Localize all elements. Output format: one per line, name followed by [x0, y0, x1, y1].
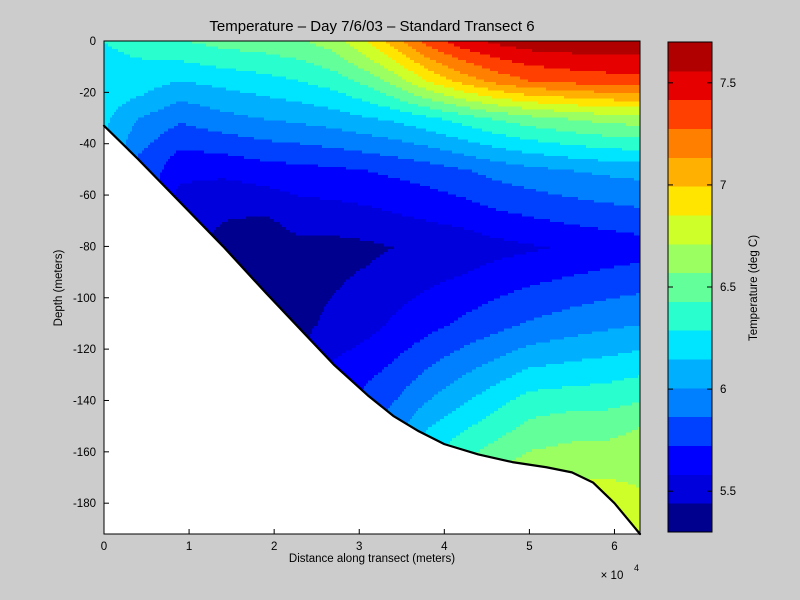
x-tick-label: 3 — [356, 541, 362, 553]
colorbar-swatch — [668, 215, 712, 244]
plot-area — [104, 41, 641, 535]
x-tick-label: 6 — [611, 541, 617, 553]
x-axis-label: Distance along transect (meters) — [289, 553, 455, 565]
colorbar-swatch — [668, 100, 712, 129]
colorbar-swatches — [668, 42, 712, 533]
colorbar-swatch — [668, 359, 712, 388]
y-tick-label: -160 — [73, 447, 96, 459]
colorbar-tick-label: 6 — [720, 384, 726, 396]
x-exponent-power: 4 — [634, 563, 639, 573]
colorbar-tick-label: 6.5 — [720, 282, 736, 294]
y-tick-label: -120 — [73, 344, 96, 356]
y-tick-label: -40 — [79, 139, 96, 151]
colorbar-swatch — [668, 503, 712, 532]
y-tick-label: -180 — [73, 498, 96, 510]
x-tick-label: 1 — [186, 541, 192, 553]
y-tick-label: 0 — [90, 36, 96, 48]
colorbar-swatch — [668, 186, 712, 215]
colorbar-tick-label: 5.5 — [720, 486, 736, 498]
colorbar-swatch — [668, 388, 712, 417]
colorbar-tick-label: 7.5 — [720, 78, 736, 90]
colorbar-swatch — [668, 330, 712, 359]
y-tick-label: -80 — [79, 241, 96, 253]
x-tick-label: 4 — [441, 541, 448, 553]
colorbar-swatch — [668, 273, 712, 302]
colorbar-swatch — [668, 157, 712, 186]
colorbar-swatch — [668, 474, 712, 503]
colorbar-swatch — [668, 301, 712, 330]
y-axis-label: Depth (meters) — [53, 249, 65, 326]
colorbar-swatch — [668, 446, 712, 475]
temperature-transect-figure: Temperature – Day 7/6/03 – Standard Tran… — [0, 0, 800, 600]
colorbar-swatch — [668, 128, 712, 157]
colorbar-swatch — [668, 417, 712, 446]
y-tick-label: -60 — [79, 190, 96, 202]
colorbar-label: Temperature (deg C) — [748, 235, 760, 341]
y-tick-label: -140 — [73, 395, 96, 407]
colorbar-tick-label: 7 — [720, 180, 726, 192]
colorbar-swatch — [668, 71, 712, 100]
colorbar-swatch — [668, 244, 712, 273]
x-exponent-base: × 10 — [601, 570, 624, 582]
x-tick-label: 2 — [271, 541, 277, 553]
y-tick-label: -20 — [79, 87, 96, 99]
x-tick-label: 5 — [526, 541, 532, 553]
colorbar-swatch — [668, 42, 712, 71]
chart-title: Temperature – Day 7/6/03 – Standard Tran… — [209, 18, 534, 35]
x-tick-label: 0 — [101, 541, 107, 553]
y-tick-label: -100 — [73, 293, 96, 305]
